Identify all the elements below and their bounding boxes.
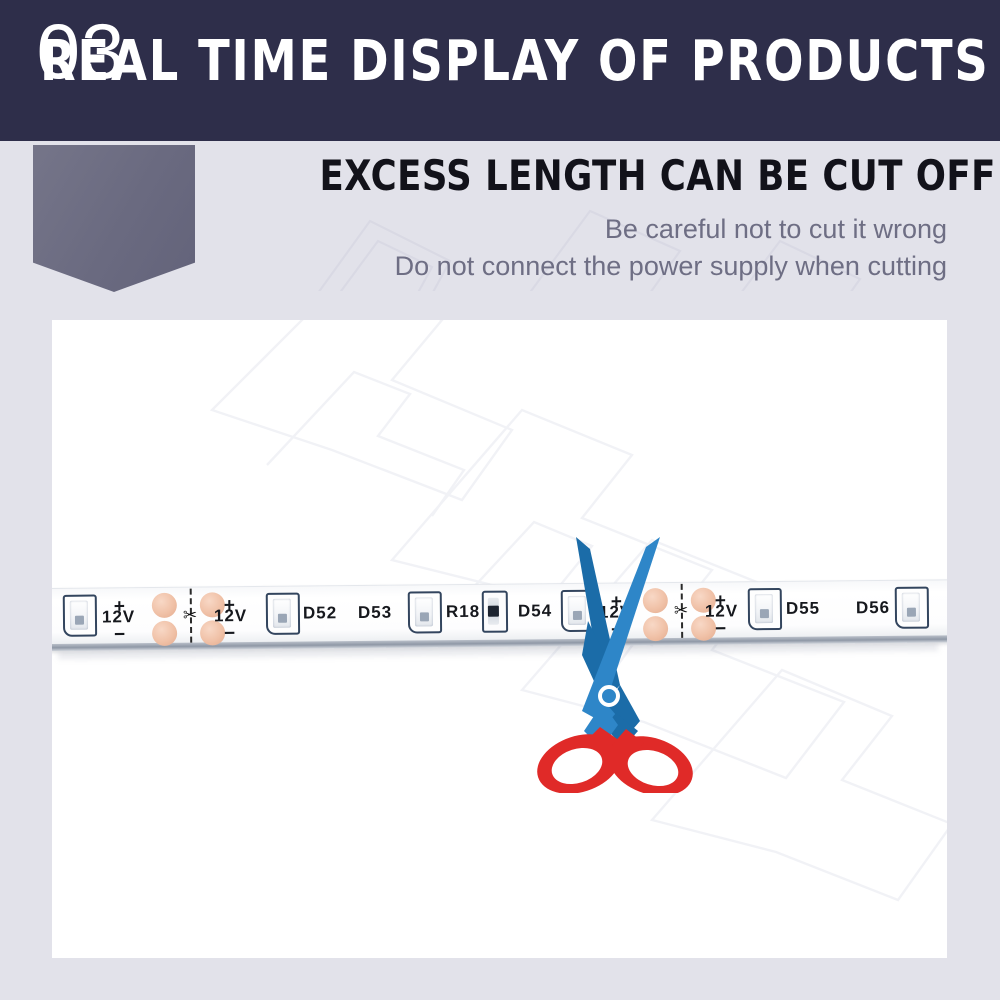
section-headline: EXCESS LENGTH CAN BE CUT OFF [319,155,928,197]
page-title: REAL TIME DISPLAY OF PRODUCTS [40,34,960,90]
product-photo-panel: + 12V − ✂ + 12V − D52 D53 R18 D54 + 12V … [52,320,947,958]
section-subtitle-line2: Do not connect the power supply when cut… [395,253,947,280]
component-ref-d53: D53 [358,603,392,623]
scissors-icon [520,535,710,793]
led-chip [266,593,300,635]
led-strip: + 12V − ✂ + 12V − D52 D53 R18 D54 + 12V … [52,573,947,662]
step-number-label: 03 [0,12,162,90]
component-ref-d56: D56 [856,598,890,618]
led-chip [63,595,97,637]
component-ref-d55: D55 [786,599,820,619]
infographic-page: REAL TIME DISPLAY OF PRODUCTS 03 EXCESS … [0,0,1000,1000]
component-ref-d52: D52 [303,603,337,623]
polarity-minus-label: − [224,624,235,643]
polarity-minus-label: − [715,619,726,638]
step-number-badge [33,145,195,292]
resistor-component [482,591,508,633]
cut-scissors-icon: ✂ [183,607,197,625]
led-chip [748,588,782,630]
solder-pad [152,621,177,646]
component-ref-r18: R18 [446,602,480,622]
section-subtitle-line1: Be careful not to cut it wrong [605,216,947,243]
led-chip [408,591,442,633]
solder-pad [152,593,177,618]
component-ref-r19: R19 [946,597,947,617]
led-chip [895,587,929,629]
polarity-minus-label: − [114,625,125,644]
